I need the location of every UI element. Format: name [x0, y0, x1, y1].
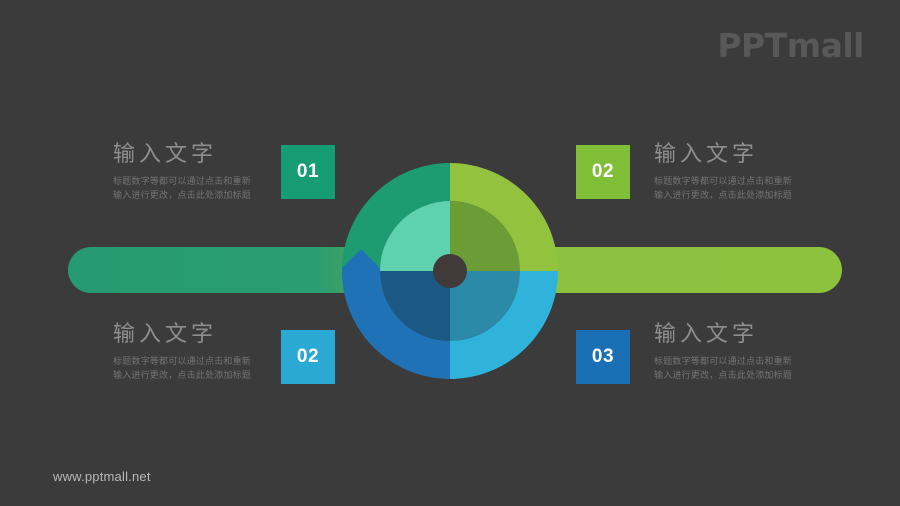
text-block-line-1: 标题数字等都可以通过点击和重新	[113, 175, 303, 189]
text-block-line-1: 标题数字等都可以通过点击和重新	[654, 175, 844, 189]
cycle-diagram	[342, 163, 558, 379]
text-block-line-2: 输入进行更改，点击此处添加标题	[654, 189, 844, 203]
text-block-top-left[interactable]: 输入文字 标题数字等都可以通过点击和重新 输入进行更改，点击此处添加标题	[113, 142, 303, 203]
text-block-bottom-right[interactable]: 输入文字 标题数字等都可以通过点击和重新 输入进行更改，点击此处添加标题	[654, 322, 844, 383]
text-block-heading: 输入文字	[654, 142, 844, 166]
center-hub	[433, 254, 467, 288]
text-block-top-right[interactable]: 输入文字 标题数字等都可以通过点击和重新 输入进行更改，点击此处添加标题	[654, 142, 844, 203]
text-block-line-1: 标题数字等都可以通过点击和重新	[654, 355, 844, 369]
text-block-line-1: 标题数字等都可以通过点击和重新	[113, 355, 303, 369]
pptmall-logo: PPTmall	[717, 26, 864, 65]
presentation-slide: PPTmall	[0, 0, 900, 506]
text-block-line-2: 输入进行更改，点击此处添加标题	[113, 189, 303, 203]
number-badge-label: 02	[592, 161, 614, 183]
footer-website-url[interactable]: www.pptmall.net	[53, 469, 151, 484]
number-badge-02-top-right[interactable]: 02	[576, 145, 630, 199]
text-block-heading: 输入文字	[654, 322, 844, 346]
text-block-heading: 输入文字	[113, 142, 303, 166]
text-block-bottom-left[interactable]: 输入文字 标题数字等都可以通过点击和重新 输入进行更改，点击此处添加标题	[113, 322, 303, 383]
text-block-heading: 输入文字	[113, 322, 303, 346]
text-block-line-2: 输入进行更改，点击此处添加标题	[654, 369, 844, 383]
text-block-line-2: 输入进行更改，点击此处添加标题	[113, 369, 303, 383]
number-badge-03[interactable]: 03	[576, 330, 630, 384]
number-badge-label: 03	[592, 346, 614, 368]
